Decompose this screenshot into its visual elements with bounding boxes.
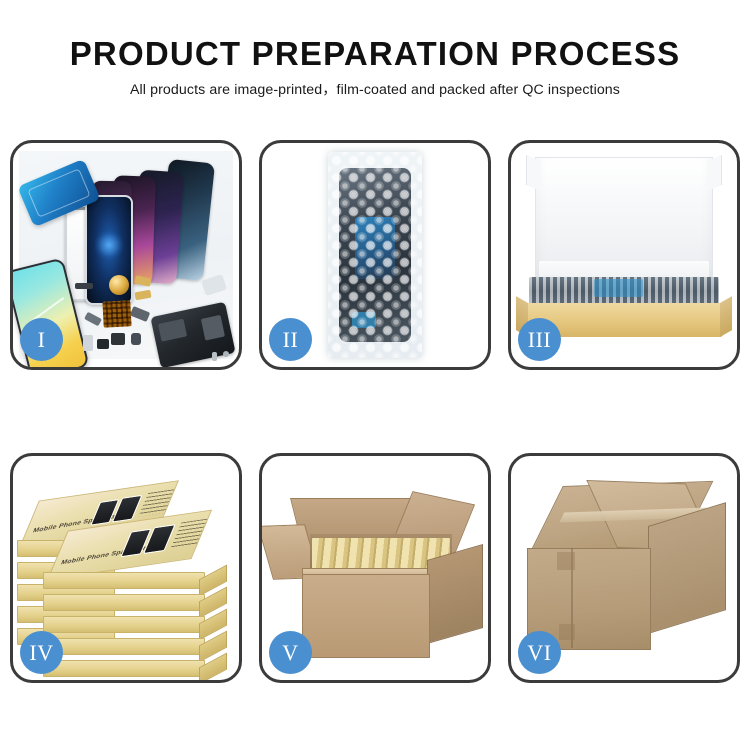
step-panel-6: VI	[508, 453, 740, 683]
sealed-carton-side	[648, 502, 726, 634]
gold-chip-grid-part	[102, 300, 131, 327]
step-panel-2: II	[259, 140, 491, 370]
step-badge-4: IV	[20, 631, 63, 674]
small-part-11	[212, 352, 217, 361]
wrapped-items-in-box	[529, 277, 719, 305]
carton-front-face	[302, 574, 430, 658]
step-panel-4: Mobile Phone Spare Parts Mobile Phone Sp…	[10, 453, 242, 683]
small-part-8	[83, 335, 93, 351]
step-panel-5: V	[259, 453, 491, 683]
header: PRODUCT PREPARATION PROCESS All products…	[0, 34, 750, 100]
carton-right-side	[427, 544, 483, 644]
product-preparation-infographic: PRODUCT PREPARATION PROCESS All products…	[0, 0, 750, 750]
kraft-box-body-f2	[43, 594, 205, 611]
kraft-box-body-f1	[43, 572, 205, 589]
step-badge-1: I	[20, 318, 63, 361]
bubble-wrap-sleeve	[328, 152, 422, 358]
step-badge-3: III	[518, 318, 561, 361]
page-subtitle: All products are image-printed，film-coat…	[0, 81, 750, 100]
small-part-10	[223, 351, 229, 357]
steps-grid: I II	[10, 140, 741, 683]
small-part-9	[97, 339, 109, 349]
box-spec-lines-front	[171, 519, 208, 548]
wrapped-screen	[339, 168, 411, 342]
carton-tab-lower	[559, 624, 575, 640]
screen-blue-film	[355, 217, 395, 280]
step-panel-1: I	[10, 140, 242, 370]
kraft-box-body-f3	[43, 616, 205, 633]
small-part-6	[111, 333, 125, 345]
page-title: PRODUCT PREPARATION PROCESS	[0, 34, 750, 74]
small-part-7	[131, 333, 141, 345]
kraft-box-body-f4	[43, 638, 205, 655]
kraft-box-body-f5	[43, 660, 205, 677]
step-panel-3: III	[508, 140, 740, 370]
screen-blue-film-2	[352, 312, 376, 328]
small-part-1	[75, 283, 93, 289]
step-badge-2: II	[269, 318, 312, 361]
step-badge-6: VI	[518, 631, 561, 674]
box-spec-lines-back	[138, 489, 174, 516]
gold-coil-part	[109, 275, 129, 295]
carton-tab-upper	[557, 552, 575, 570]
step-badge-5: V	[269, 631, 312, 674]
